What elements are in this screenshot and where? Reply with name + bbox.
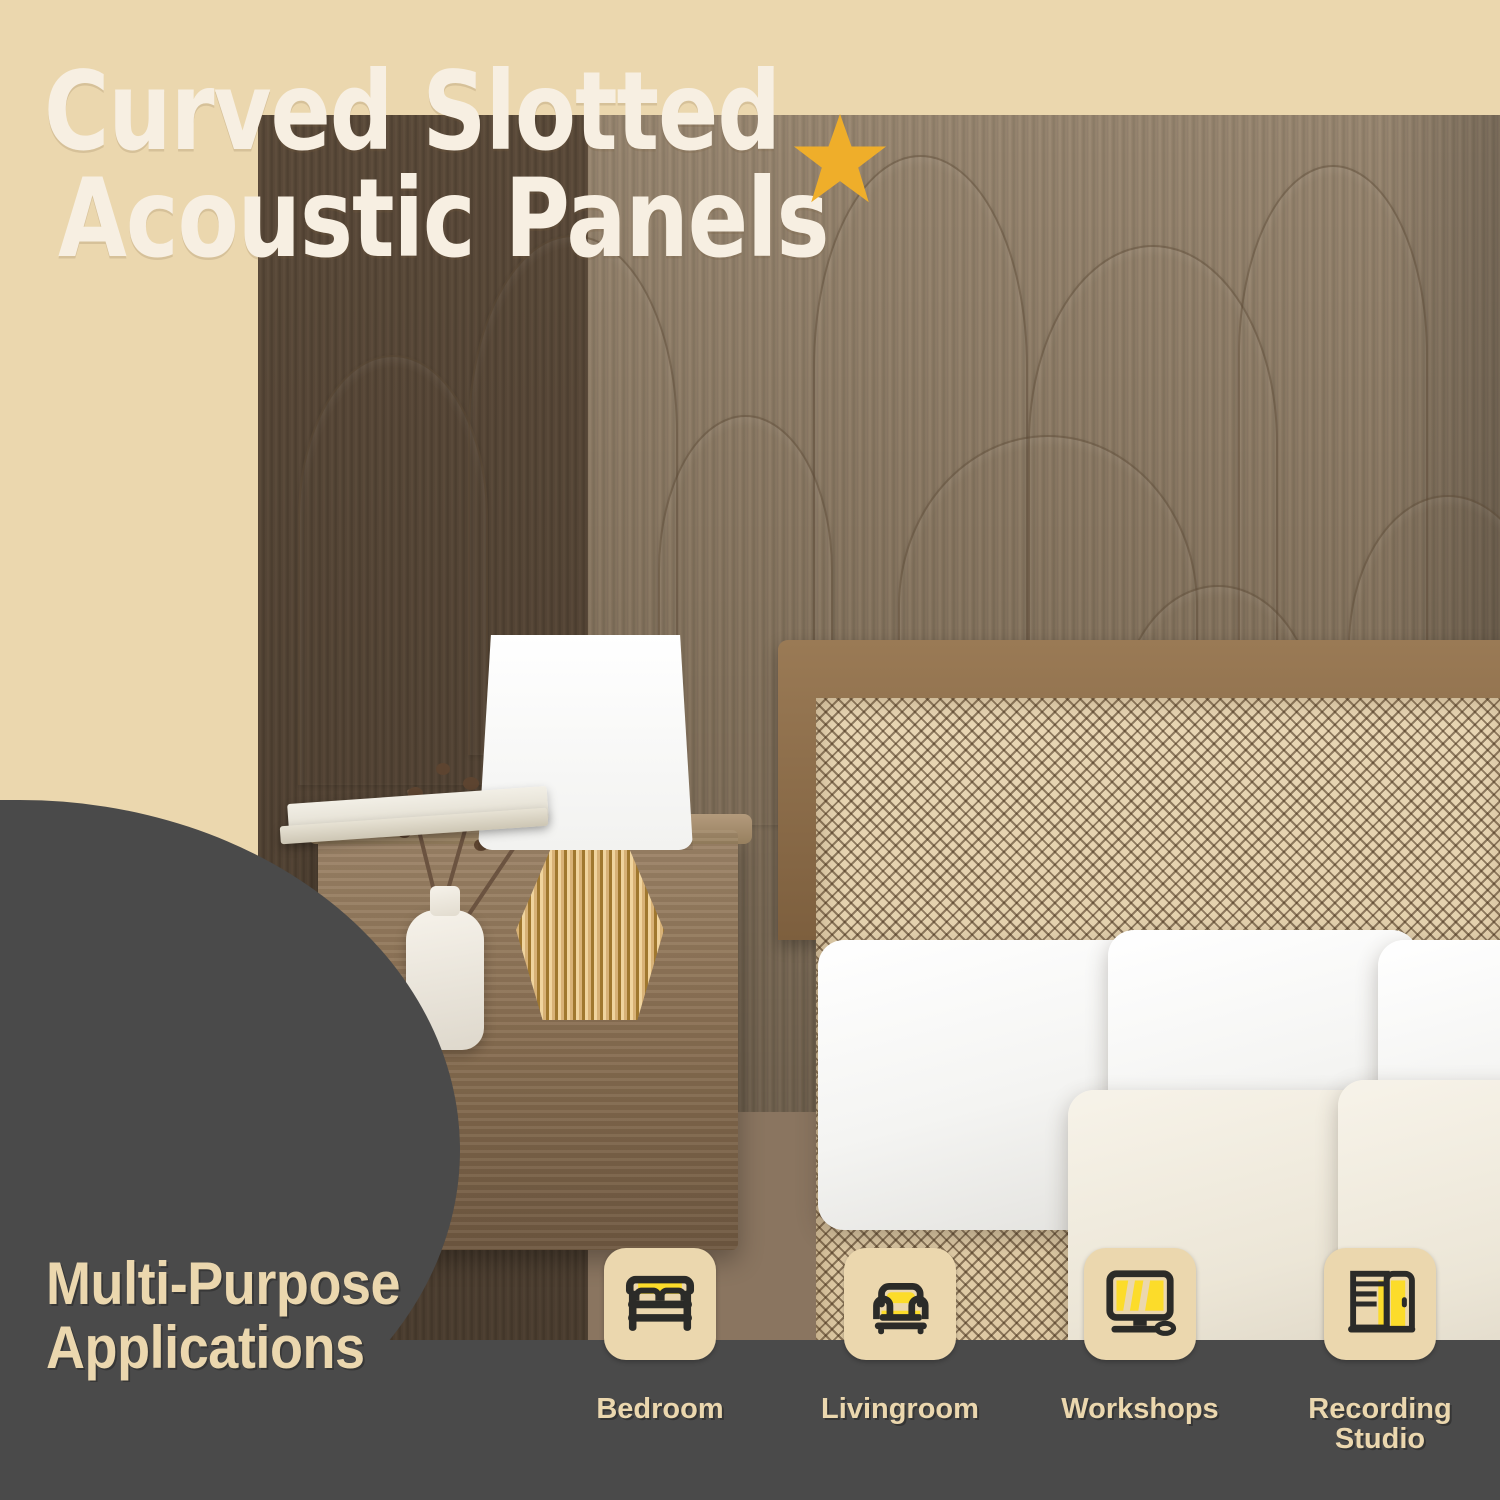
sofa-icon-tile[interactable]: [844, 1248, 956, 1360]
label-text: Recording: [1308, 1393, 1451, 1425]
label-text: Bedroom: [596, 1393, 723, 1425]
application-label: Bedroom: [596, 1394, 723, 1424]
top-cream-strip: [258, 0, 1500, 115]
bed-icon-tile[interactable]: [604, 1248, 716, 1360]
cabinet-icon-tile[interactable]: [1324, 1248, 1436, 1360]
application-icon-row: Bedroom Livingroom: [540, 1248, 1500, 1488]
label-text-2: Studio: [1335, 1423, 1425, 1455]
section-heading-line-2: Applications: [46, 1316, 400, 1380]
section-heading: Multi-Purpose Applications: [46, 1252, 400, 1379]
application-recording-studio[interactable]: Recording Studio: [1260, 1248, 1500, 1455]
label-text: Workshops: [1061, 1393, 1218, 1425]
section-heading-line-1: Multi-Purpose: [46, 1252, 400, 1316]
dried-berry: [436, 763, 450, 775]
arch-motif: [298, 355, 488, 785]
application-workshops[interactable]: Workshops: [1020, 1248, 1260, 1424]
sofa-icon: [858, 1262, 942, 1346]
cabinet-icon: [1338, 1262, 1422, 1346]
monitor-icon: [1098, 1262, 1182, 1346]
application-label: Recording Studio: [1308, 1394, 1451, 1455]
dried-berry: [463, 777, 479, 790]
monitor-icon-tile[interactable]: [1084, 1248, 1196, 1360]
application-label: Workshops: [1061, 1394, 1218, 1424]
application-label: Livingroom: [821, 1394, 979, 1424]
left-cream-block: [0, 0, 258, 800]
bed-icon: [618, 1262, 702, 1346]
application-livingroom[interactable]: Livingroom: [780, 1248, 1020, 1424]
star-icon: [792, 112, 888, 208]
label-text: Livingroom: [821, 1393, 979, 1425]
application-bedroom[interactable]: Bedroom: [540, 1248, 780, 1424]
product-banner: Curved Slotted Acoustic Panels Multi-Pur…: [0, 0, 1500, 1500]
